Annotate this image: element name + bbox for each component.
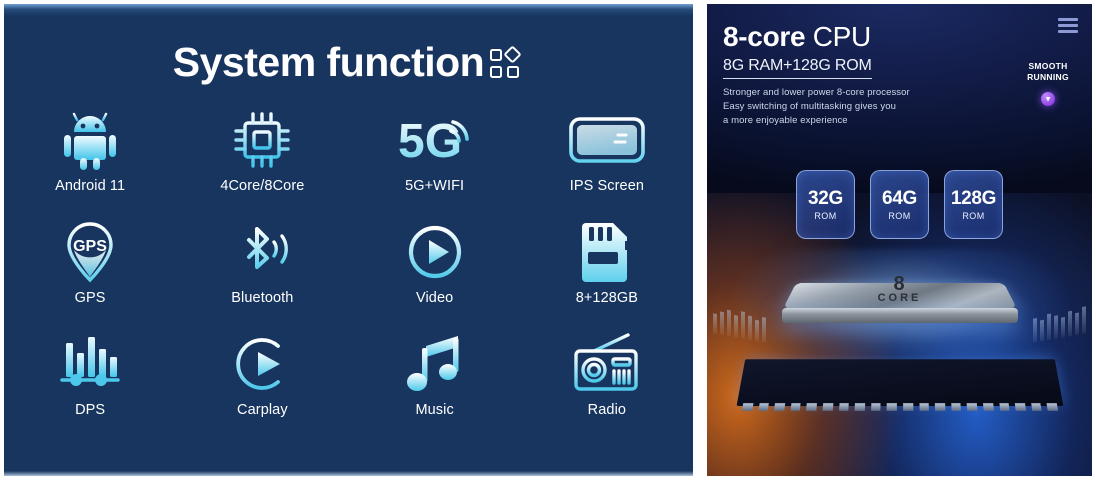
rom-unit: ROM — [888, 211, 910, 221]
status-badge: SMOOTH RUNNING — [1016, 61, 1080, 83]
feature-label: DPS — [75, 402, 105, 418]
pcb-dark-chip — [737, 359, 1064, 406]
rom-value: 64G — [882, 189, 917, 208]
feature-label: 5G+WIFI — [405, 178, 464, 194]
page-title: System function — [173, 42, 484, 83]
hamburger-menu-icon[interactable] — [1016, 18, 1078, 33]
video-play-circle-icon — [405, 216, 465, 288]
bluetooth-signal-icon — [229, 216, 295, 288]
feature-item-music[interactable]: Music — [349, 328, 521, 440]
panel-bottom-glow — [4, 471, 693, 476]
feature-item-video[interactable]: Video — [349, 216, 521, 328]
panel-title-row: System function — [4, 42, 693, 83]
feature-item-bluetooth[interactable]: Bluetooth — [176, 216, 348, 328]
feature-item-carplay[interactable]: Carplay — [176, 328, 348, 440]
feature-label: Music — [415, 402, 453, 418]
feature-label: Video — [416, 290, 453, 306]
feature-item-storage[interactable]: 8+128GB — [521, 216, 693, 328]
system-function-panel: System function — [4, 4, 693, 476]
cpu-die-word: CORE — [782, 293, 1018, 304]
feature-label: 8+128GB — [576, 290, 638, 306]
promo-heading-light: CPU — [813, 21, 871, 52]
rom-option-128g[interactable]: 128G ROM — [944, 170, 1003, 239]
music-note-icon — [406, 328, 464, 400]
cpu-chip-icon — [232, 104, 292, 176]
svg-text:GPS: GPS — [73, 238, 107, 255]
rom-unit: ROM — [962, 211, 984, 221]
sd-card-icon — [580, 216, 634, 288]
android-robot-icon — [61, 104, 119, 176]
equalizer-icon — [59, 328, 121, 400]
product-infographic: System function — [0, 0, 1096, 480]
promo-description: Stronger and lower power 8-core processo… — [723, 86, 1013, 127]
rom-value: 128G — [951, 189, 996, 208]
cpu-die-number: 8 — [782, 274, 1018, 294]
carplay-arc-play-icon — [232, 328, 292, 400]
panel-top-glow — [4, 4, 693, 16]
feature-item-gps[interactable]: GPS GPS — [4, 216, 176, 328]
feature-label: GPS — [75, 290, 106, 306]
promo-subheading: 8G RAM+128G ROM — [723, 57, 872, 79]
feature-label: IPS Screen — [570, 178, 644, 194]
feature-item-5g-wifi[interactable]: 5G 5G+WIFI — [349, 104, 521, 216]
purple-play-badge-icon — [1041, 92, 1055, 106]
rom-option-list: 32G ROM 64G ROM 128G ROM — [707, 170, 1092, 239]
rom-unit: ROM — [814, 211, 836, 221]
grid-diamond-icon — [490, 47, 524, 81]
promo-badge-block: SMOOTH RUNNING — [1016, 18, 1080, 106]
feature-grid: Android 11 4Core/8Core — [4, 104, 693, 440]
rom-option-64g[interactable]: 64G ROM — [870, 170, 929, 239]
rom-option-32g[interactable]: 32G ROM — [796, 170, 855, 239]
promo-heading: 8-core CPU — [723, 22, 1013, 51]
rom-value: 32G — [808, 189, 843, 208]
radio-receiver-icon — [572, 328, 642, 400]
screen-display-icon — [568, 104, 646, 176]
cpu-die-edge — [782, 308, 1018, 323]
feature-item-cpu[interactable]: 4Core/8Core — [176, 104, 348, 216]
cpu-die-photo: 8 CORE — [782, 272, 1018, 338]
feature-label: 4Core/8Core — [220, 178, 304, 194]
feature-item-ips-screen[interactable]: IPS Screen — [521, 104, 693, 216]
feature-label: Carplay — [237, 402, 288, 418]
cpu-promo-panel: 8-core CPU 8G RAM+128G ROM Stronger and … — [707, 4, 1092, 476]
feature-label: Android 11 — [55, 178, 125, 194]
promo-heading-block: 8-core CPU 8G RAM+128G ROM Stronger and … — [723, 22, 1013, 128]
cpu-die-marking: 8 CORE — [782, 274, 1018, 304]
feature-item-android[interactable]: Android 11 — [4, 104, 176, 216]
5g-wifi-icon: 5G — [397, 104, 473, 176]
feature-label: Bluetooth — [231, 290, 293, 306]
feature-item-dps[interactable]: DPS — [4, 328, 176, 440]
promo-heading-bold: 8-core — [723, 21, 805, 52]
feature-label: Radio — [588, 402, 626, 418]
gps-pin-icon: GPS — [63, 216, 117, 288]
pcb-chip-legs — [742, 403, 1058, 411]
feature-item-radio[interactable]: Radio — [521, 328, 693, 440]
